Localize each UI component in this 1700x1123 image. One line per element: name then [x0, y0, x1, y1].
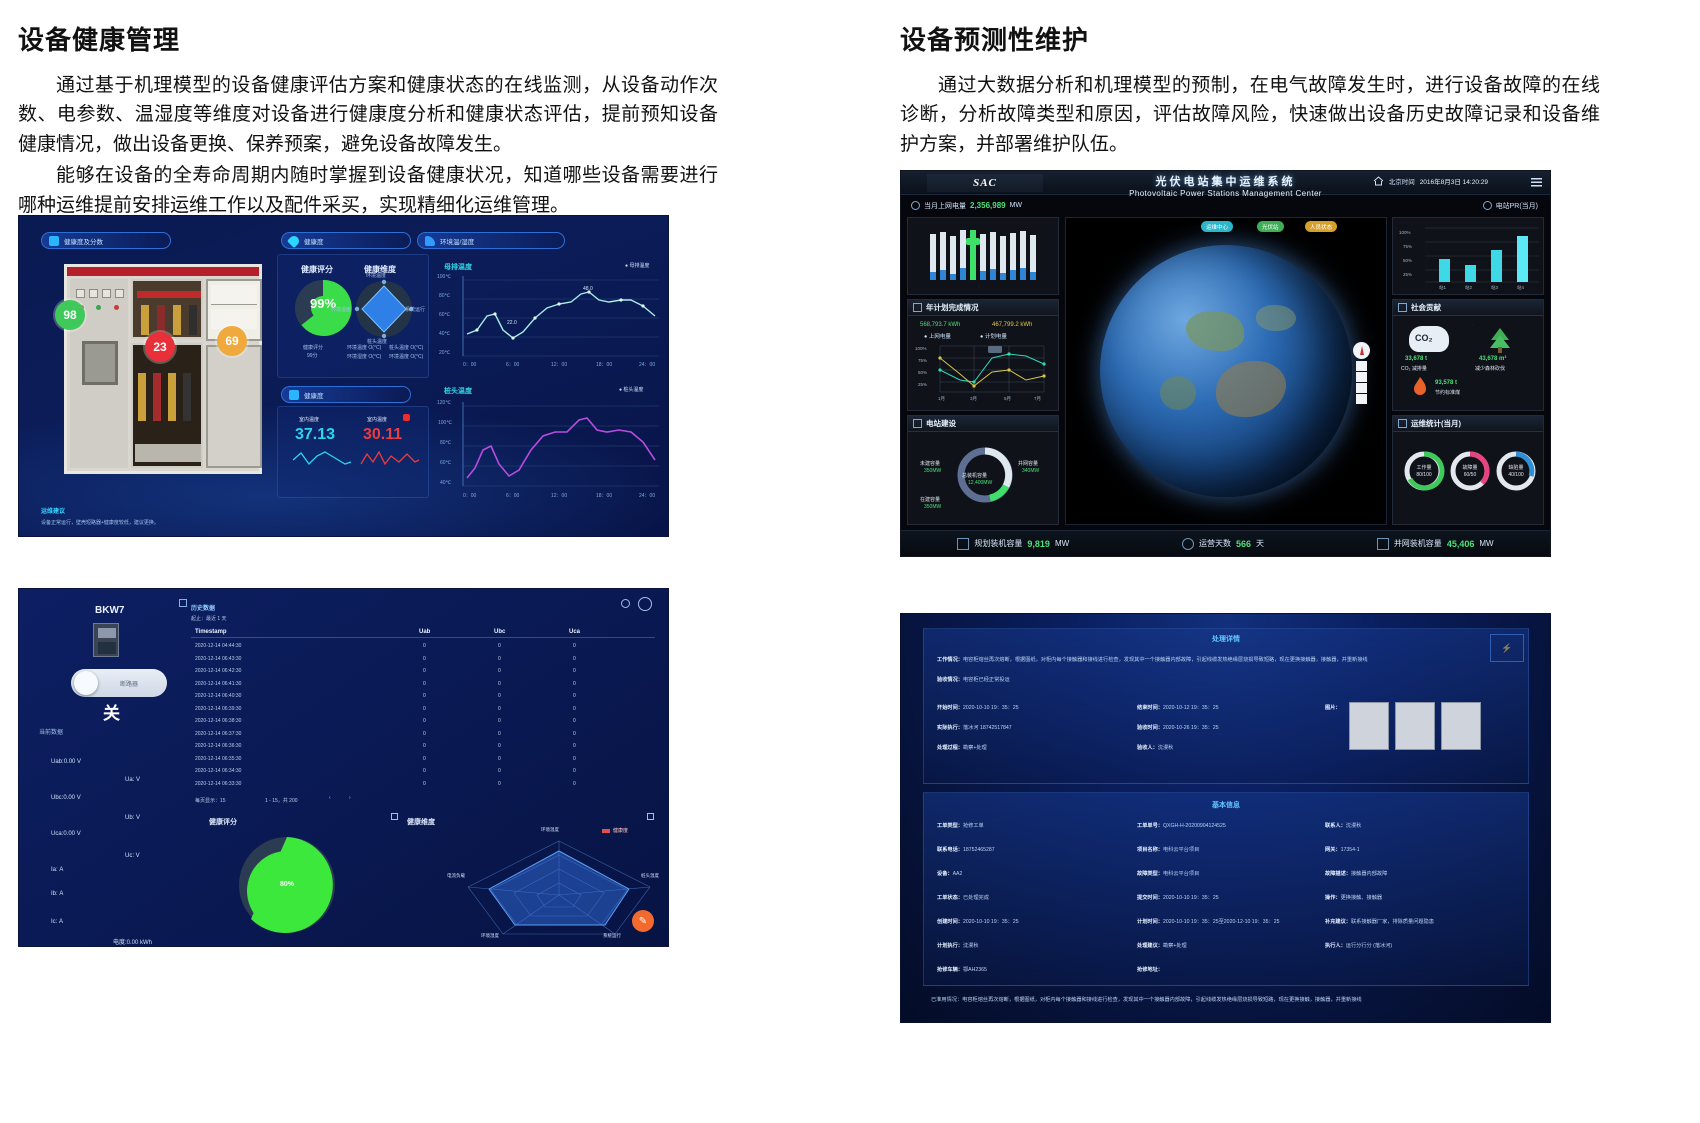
ops-value-1: 60/50 [1455, 472, 1485, 478]
cabinet-busbar-lower [131, 343, 203, 468]
cabinet-right-lower [206, 345, 262, 468]
calendar-icon[interactable] [179, 599, 187, 607]
health-score-caption-1: 健康评分 [303, 344, 323, 351]
reading-ia: Ia: A [51, 867, 63, 873]
table-cell-ubc: 0 [498, 743, 501, 749]
zoom-out-icon[interactable] [1356, 394, 1367, 404]
table-cell-uca: 0 [573, 743, 576, 749]
alarm-icon [403, 414, 410, 421]
document-page: 设备健康管理 通过基于机理模型的设备健康评估方案和健康状态的在线监测，从设备动作… [0, 0, 1700, 1123]
busbar-xtick-4: 24：00 [639, 361, 655, 368]
detail-accept-time: 验收时间：2020-10-26 19：35：25 [1137, 724, 1219, 731]
device-gauge-value: 80% [235, 881, 339, 888]
device-photo [93, 623, 119, 657]
reading-ubc: Ubc:0.00 V [51, 795, 81, 801]
search-icon[interactable] [621, 599, 630, 608]
ops-label-1: 故障量 [1455, 464, 1485, 471]
col-uab: Uab [419, 629, 430, 635]
panel-station-build: 电站建设 未建容量 350MW 总装机容量 12,400MW 并网容量 340M… [907, 415, 1059, 525]
busbar-annotation-2: 48.0 [583, 286, 593, 292]
pager-range: 1 - 15，共 200 [265, 797, 298, 804]
device-name: BKW7 [95, 605, 124, 616]
indoor-value-2: 30.11 [363, 426, 402, 444]
busbar-ytick-2: 60℃ [439, 312, 450, 318]
grid-icon [1377, 538, 1389, 550]
year-xtick-0: 1月 [938, 396, 945, 402]
year-plan-value-1: 568,793.7 kWh [920, 322, 960, 328]
panel-pill-env: 环境温/湿度 [417, 232, 565, 249]
social-value-1: 43,678 m³ [1479, 356, 1506, 362]
cabinet-red-header [67, 267, 259, 276]
table-cell-uab: 0 [423, 693, 426, 699]
left-paragraph-2: 能够在设备的全寿命周期内随时掌握到设备健康状况，知道哪些设备需要进行哪种运维提前… [18, 161, 718, 220]
pv-bottom-bar: 规划装机容量 9,819 MW 运营天数 566 天 并网装机容量 45,406… [901, 530, 1550, 556]
busbar-ytick-1: 80℃ [439, 293, 450, 299]
table-cell-ubc: 0 [498, 656, 501, 662]
busbar-chart-title: 母排温度 [444, 262, 472, 272]
panel-label-camera: 健康度及分数 [64, 236, 103, 246]
table-cell-uca: 0 [573, 781, 576, 787]
basic-info-field: 创建时间：2020-10-10 19：35：25 [937, 918, 1019, 925]
panel-label-indoor: 健康度 [304, 390, 324, 400]
monthly-bar-chart [908, 218, 1060, 296]
basic-info-field: 联系电话：18752465287 [937, 846, 995, 853]
expand-icon-radar[interactable] [647, 813, 654, 820]
plan-icon [957, 538, 969, 550]
col-ubc: Ubc [494, 629, 505, 635]
detail-acceptor: 验收人：沈漫秋 [1137, 744, 1173, 751]
ops-title: 运维统计(当月) [1411, 418, 1461, 429]
table-cell-uab: 0 [423, 781, 426, 787]
pr-xtick-2: 站3 [1491, 285, 1498, 291]
build-label-2: 并网容量 [1018, 460, 1038, 467]
map-tag-ops-center[interactable]: 运维中心 [1201, 221, 1233, 232]
terminal-ytick-3: 60℃ [440, 460, 451, 466]
year-xtick-3: 7月 [1034, 396, 1041, 402]
health-score-caption-2: 99分 [307, 352, 318, 359]
reading-uc: Uc: V [125, 853, 140, 859]
table-cell-uca: 0 [573, 756, 576, 762]
health-bubble-1: 98 [55, 300, 85, 330]
terminal-xtick-3: 18：00 [596, 492, 612, 499]
table-cell-ubc: 0 [498, 718, 501, 724]
busbar-ytick-3: 40℃ [439, 331, 450, 337]
ops-gauge-defects [1495, 450, 1537, 492]
left-section-title: 设备健康管理 [18, 20, 718, 57]
processing-detail-title: 处理详情 [923, 634, 1529, 644]
table-cell-ubc: 0 [498, 756, 501, 762]
basic-info-field: 操作：更换接触、接触器 [1325, 894, 1382, 901]
grid-toggle-icon[interactable] [1356, 361, 1367, 371]
basic-info-card [923, 792, 1529, 986]
table-cell-timestamp: 2020-12-14 06:41:30 [195, 681, 241, 687]
build-value-3: 350MW [924, 504, 941, 510]
year-ytick-2: 50% [918, 370, 927, 375]
device-monitor-dashboard-image: BKW7 断路器 关 当前数据 Uab:0.00 V Ubc:0.00 V Uc… [18, 588, 669, 947]
panel-pill-health: 健康度 [281, 232, 411, 249]
social-header: 社会贡献 [1393, 300, 1543, 316]
table-cell-ubc: 0 [498, 643, 501, 649]
calendar-icon [1398, 419, 1407, 428]
radar-legend-1: 环境温度 O(°C) [347, 344, 381, 351]
reading-uca: Uca:0.00 V [51, 831, 81, 837]
build-value-2: 340MW [1022, 468, 1039, 474]
pager-rows-label: 每页显示：15 [195, 797, 226, 804]
basic-info-field: 计划时间：2020-10-10 19：35：25至2020-12-10 19：3… [1137, 918, 1279, 925]
table-cell-timestamp: 2020-12-14 06:40:30 [195, 693, 241, 699]
table-cell-ubc: 0 [498, 781, 501, 787]
table-cell-ubc: 0 [498, 668, 501, 674]
health-score-title: 健康评分 [301, 264, 333, 275]
panel-ops-stats: 运维统计(当月) 工作量 80/100 故障量 60/50 缺陷量 40/100 [1392, 415, 1544, 525]
right-column: 设备预测性维护 通过大数据分析和机理模型的预制，在电气故障发生时，进行设备故障的… [900, 0, 1600, 159]
table-cell-ubc: 0 [498, 731, 501, 737]
device-radar-axis-3: 环境湿度 [481, 933, 499, 939]
radar-legend-4: 环境温度 O(°C) [389, 353, 423, 360]
globe-controls[interactable] [1353, 342, 1370, 404]
switchgear-photo [64, 264, 262, 474]
social-label-2: 节约标准煤 [1435, 389, 1460, 396]
station-build-title: 电站建设 [926, 418, 956, 429]
pr-ytick-0: 100% [1399, 230, 1411, 235]
terminal-temp-line-chart [437, 398, 662, 502]
table-cell-timestamp: 2020-12-14 06:42:30 [195, 668, 241, 674]
basic-info-field: 执行人：运行分行分 (落冰河) [1325, 942, 1392, 949]
busbar-annotation-1: 22.0 [507, 320, 517, 326]
terminal-xtick-4: 24：00 [639, 492, 655, 499]
table-cell-ubc: 0 [498, 681, 501, 687]
compass-icon[interactable] [1353, 342, 1370, 359]
kpi-left-unit: MW [1010, 202, 1022, 209]
clock-label: 北京时间 [1389, 176, 1415, 186]
detail-work-situation: 工作情况：电容柜熔丝再次熔断，根据图纸，对柜内每个接触器和接线进行检查，发现其中… [937, 656, 1517, 663]
basic-info-field: 补充建议：联系接触器厂家，排除质量问题隐患 [1325, 918, 1434, 925]
indoor-sparkline-1 [291, 448, 353, 470]
clock-icon [1182, 538, 1194, 550]
table-cell-uca: 0 [573, 768, 576, 774]
col-uca: Uca [569, 629, 580, 635]
cloud-co2-icon: CO₂ [1409, 326, 1449, 352]
table-cell-uab: 0 [423, 706, 426, 712]
busbar-ytick-4: 20℃ [439, 350, 450, 356]
history-table-title: 历史数据 [191, 603, 215, 612]
basic-info-field: 处理建议：勘察+处理 [1137, 942, 1187, 949]
table-cell-uca: 0 [573, 681, 576, 687]
indoor-label-2: 室内温度 [367, 416, 387, 423]
year-plan-line-chart [914, 340, 1056, 402]
table-cell-uab: 0 [423, 681, 426, 687]
year-ytick-3: 25% [918, 382, 927, 387]
heart-icon [287, 233, 301, 247]
toggle-label: 断路器 [120, 679, 138, 688]
target-icon[interactable] [1356, 372, 1367, 382]
build-value-1: 12,400MW [968, 480, 992, 486]
table-cell-timestamp: 2020-12-14 06:33:30 [195, 781, 241, 787]
kpi-station-pr: 电站PR(当月) [1483, 197, 1538, 214]
year-plan-header: 年计划完成情况 [908, 300, 1058, 316]
left-paragraph-1: 通过基于机理模型的设备健康评估方案和健康状态的在线监测，从设备动作次数、电参数、… [18, 71, 718, 159]
radar-legend-2: 桩头温度 O(°C) [389, 344, 423, 351]
basic-info-field: 工单类型：抢修工单 [937, 822, 984, 829]
device-gauge-title: 健康评分 [209, 817, 237, 827]
right-paragraph-1: 通过大数据分析和机理模型的预制，在电气故障发生时，进行设备故障的在线诊断，分析故… [900, 71, 1600, 159]
cabinet-busbar-upper [131, 279, 203, 339]
health-bubble-3: 69 [217, 326, 247, 356]
table-cell-uab: 0 [423, 718, 426, 724]
build-value-0: 350MW [924, 468, 941, 474]
table-cell-uab: 0 [423, 643, 426, 649]
detail-image-2[interactable] [1395, 702, 1435, 750]
indoor-value-1: 37.13 [295, 426, 335, 444]
table-cell-uab: 0 [423, 656, 426, 662]
ops-gauge-workload [1403, 450, 1445, 492]
box-icon [289, 390, 299, 400]
busbar-xtick-0: 0：00 [463, 361, 476, 368]
basic-info-field: 联系人：沈漫秋 [1325, 822, 1361, 829]
basic-info-field: 网关：17354-1 [1325, 846, 1360, 853]
panel-label-env: 环境温/湿度 [440, 236, 474, 246]
ops-gauge-faults [1449, 450, 1491, 492]
history-range-label: 起止：最近 1 天 [191, 615, 227, 622]
reading-ib: Ib: A [51, 891, 63, 897]
busbar-xtick-1: 6：00 [506, 361, 519, 368]
ops-value-0: 80/100 [1409, 472, 1439, 478]
left-column: 设备健康管理 通过基于机理模型的设备健康评估方案和健康状态的在线监测，从设备动作… [18, 0, 718, 220]
trophy-icon [1398, 303, 1407, 312]
pager-prev-icon[interactable]: ‹ [329, 795, 331, 801]
table-cell-uca: 0 [573, 718, 576, 724]
busbar-ytick-0: 100℃ [437, 274, 451, 280]
social-value-0: 33,678 t [1405, 356, 1427, 362]
indoor-label-1: 室内温度 [299, 416, 319, 423]
table-cell-timestamp: 2020-12-14 06:39:30 [195, 706, 241, 712]
toggle-knob[interactable] [74, 671, 98, 695]
bottom-item-planned-capacity: 规划装机容量 9,819 MW [957, 538, 1069, 550]
detail-image-1[interactable] [1349, 702, 1389, 750]
device-radar-axis-4: 电流负载 [447, 873, 465, 879]
basic-info-field: 设备：AA2 [937, 870, 962, 877]
year-plan-legend-2: ● 计划电量 [980, 332, 1007, 340]
breaker-state: 关 [103, 699, 120, 724]
pr-ytick-1: 75% [1403, 244, 1412, 249]
panel-pill-indoor: 健康度 [281, 386, 411, 403]
terminal-chart-legend: ● 桩头温度 [619, 386, 643, 393]
detail-acceptance: 验收情况：电容柜已经正常投运 [937, 676, 1010, 683]
table-cell-uca: 0 [573, 693, 576, 699]
basic-info-field: 工单单号：QXGH-H-20200904124525 [1137, 822, 1226, 829]
table-cell-timestamp: 2020-12-14 04:44:30 [195, 643, 241, 649]
col-timestamp: Timestamp [195, 629, 227, 635]
table-cell-timestamp: 2020-12-14 06:35:30 [195, 756, 241, 762]
pr-ytick-3: 25% [1403, 272, 1412, 277]
device-radar-chart [459, 835, 659, 939]
panel-social-contribution: 社会贡献 CO₂ 33,678 t CO₂ 减排量 43,678 m³ 减少森林… [1392, 299, 1544, 411]
indoor-sparkline-2 [359, 448, 421, 470]
basic-info-title: 基本信息 [923, 800, 1529, 810]
station-build-header: 电站建设 [908, 416, 1058, 432]
health-bubble-2: 23 [145, 332, 175, 362]
detail-image-3[interactable] [1441, 702, 1481, 750]
ops-label-2: 缺陷量 [1501, 464, 1531, 471]
reading-ub: Ub: V [125, 815, 140, 821]
basic-info-field: 抢修地址： [1137, 966, 1163, 973]
wave-icon [425, 236, 435, 246]
table-cell-uca: 0 [573, 731, 576, 737]
device-radar-title: 健康维度 [407, 817, 435, 827]
year-xtick-2: 5月 [1004, 396, 1011, 402]
device-radar-legend: 健康度 [602, 827, 628, 834]
basic-info-field: 项目名称：电科云平台项目 [1137, 846, 1199, 853]
table-cell-timestamp: 2020-12-14 06:34:30 [195, 768, 241, 774]
reading-uab: Uab:0.00 V [51, 759, 81, 765]
chart-up-icon [913, 303, 922, 312]
busbar-xtick-2: 12：00 [551, 361, 567, 368]
social-label-1: 减少森林砍伐 [1475, 365, 1505, 372]
table-cell-ubc: 0 [498, 768, 501, 774]
panel-monthly-bars [907, 217, 1059, 295]
advice-title: 运维建议 [41, 506, 65, 515]
basic-info-field: 抢修车辆：鄂AH2365 [937, 966, 987, 973]
kpi-right-label: 电站PR(当月) [1496, 201, 1538, 211]
table-cell-uca: 0 [573, 643, 576, 649]
work-order-detail-image: ⚡ 处理详情 工作情况：电容柜熔丝再次熔断，根据图纸，对柜内每个接触器和接线进行… [900, 613, 1551, 1023]
radar-legend-3: 环境湿度 O(°C) [347, 353, 381, 360]
breaker-toggle[interactable]: 断路器 [71, 669, 167, 697]
ops-label-0: 工作量 [1409, 464, 1439, 471]
pr-xtick-1: 站2 [1465, 285, 1472, 291]
basic-info-field: 计划执行：沈漫秋 [937, 942, 979, 949]
year-plan-title: 年计划完成情况 [926, 302, 979, 313]
table-cell-uab: 0 [423, 743, 426, 749]
globe-viewport[interactable] [1065, 217, 1387, 525]
kpi-left-value: 2,356,989 [970, 201, 1006, 210]
camera-icon [49, 236, 59, 246]
table-cell-timestamp: 2020-12-14 06:43:30 [195, 656, 241, 662]
table-cell-uca: 0 [573, 706, 576, 712]
basic-info-field: 故障类型：电科云平台项目 [1137, 870, 1199, 877]
social-label-0: CO₂ 减排量 [1401, 365, 1427, 372]
social-title: 社会贡献 [1411, 302, 1441, 313]
earth-globe [1100, 245, 1352, 497]
detail-images-label: 图片： [1325, 704, 1341, 711]
table-header-divider [191, 637, 655, 638]
table-cell-uab: 0 [423, 768, 426, 774]
detail-executor: 实际执行：落冰河 18742517847 [937, 724, 1012, 731]
year-ytick-1: 75% [918, 358, 927, 363]
busbar-temp-line-chart [437, 272, 662, 372]
build-label-0: 未建容量 [920, 460, 940, 467]
advice-text: 设备正常运行，壁壳短路器+健康度较低，建议更换。 [41, 519, 159, 526]
table-cell-uab: 0 [423, 668, 426, 674]
table-cell-timestamp: 2020-12-14 06:37:30 [195, 731, 241, 737]
bolt-icon [911, 201, 920, 210]
pr-xtick-3: 站4 [1517, 285, 1524, 291]
year-xtick-1: 3月 [970, 396, 977, 402]
social-value-2: 93,578 t [1435, 380, 1457, 386]
home-icon [1373, 176, 1384, 186]
table-cell-ubc: 0 [498, 706, 501, 712]
reading-energy: 电度:0.00 kWh [113, 937, 152, 946]
tree-icon [1485, 326, 1515, 354]
bottom-item-grid-capacity: 并网装机容量 45,406 MW [1377, 538, 1494, 550]
map-tag-staff-status[interactable]: 人员状态 [1305, 221, 1337, 232]
kpi-monthly-grid-power: 当月上网电量 2,356,989 MW [911, 197, 1022, 214]
radar-axis-right: 系统运行 [405, 306, 425, 313]
menu-icon[interactable] [1531, 178, 1542, 187]
reading-ic: Ic: A [51, 919, 63, 925]
pv-clock: 北京时间 2016年8月3日 14:20:29 [1373, 176, 1488, 186]
terminal-xtick-1: 6：00 [506, 492, 519, 499]
terminal-ytick-4: 40℃ [440, 480, 451, 486]
table-cell-uca: 0 [573, 656, 576, 662]
basic-info-field: 工单状态：已处理完成 [937, 894, 989, 901]
order-footer-note: 已准用情况：电容柜熔丝再次熔断，根据图纸，对柜内每个接触器和接线进行检查，发现其… [931, 996, 1531, 1003]
current-data-label: 当前数据 [39, 727, 63, 736]
pr-icon [1483, 201, 1492, 210]
panel-pr-bars: 100% 75% 50% 25% 站1 站2 站3 站4 [1392, 217, 1544, 295]
table-cell-timestamp: 2020-12-14 06:36:30 [195, 743, 241, 749]
ops-value-2: 40/100 [1501, 472, 1531, 478]
basic-info-field: 故障描述：接触器内部故障 [1325, 870, 1387, 877]
fab-edit-icon[interactable]: ✎ [632, 910, 654, 932]
expand-icon-gauge[interactable] [391, 813, 398, 820]
map-tag-pv-station[interactable]: 光伏站 [1257, 221, 1284, 232]
zoom-in-icon[interactable] [1356, 383, 1367, 393]
table-cell-ubc: 0 [498, 693, 501, 699]
clock-value: 2016年8月3日 14:20:29 [1420, 176, 1488, 186]
pager-next-icon[interactable]: › [349, 795, 351, 801]
build-label-3: 在建容量 [920, 496, 940, 503]
terminal-ytick-0: 120℃ [437, 400, 451, 406]
flame-icon [1409, 376, 1431, 396]
panel-label-health: 健康度 [304, 236, 324, 246]
year-plan-value-2: 467,799.2 kWh [992, 322, 1032, 328]
build-label-1: 总装机容量 [962, 472, 987, 479]
busbar-xtick-3: 18：00 [596, 361, 612, 368]
year-plan-legend-1: ● 上网电量 [924, 332, 951, 340]
terminal-ytick-2: 80℃ [440, 440, 451, 446]
panel-pill-camera: 健康度及分数 [41, 232, 171, 249]
panel-year-plan: 年计划完成情况 568,793.7 kWh 467,799.2 kWh ● 上网… [907, 299, 1059, 411]
device-radar-axis-0: 环境温度 [541, 827, 559, 833]
avatar[interactable] [638, 597, 652, 611]
building-icon [913, 419, 922, 428]
table-cell-uab: 0 [423, 731, 426, 737]
terminal-ytick-1: 100℃ [438, 420, 452, 426]
equipment-health-dashboard-image: 健康度及分数 健康度 环境温/湿度 健康度 [18, 215, 669, 537]
terminal-xtick-0: 0：00 [463, 492, 476, 499]
table-cell-timestamp: 2020-12-14 06:38:30 [195, 718, 241, 724]
year-ytick-0: 100% [915, 346, 927, 351]
terminal-xtick-2: 12：00 [551, 492, 567, 499]
pv-management-dashboard-image: SAC 光伏电站集中运维系统 Photovoltaic Power Statio… [900, 170, 1551, 557]
basic-info-field: 提交时间：2020-10-10 19：35：25 [1137, 894, 1219, 901]
pr-ytick-2: 50% [1403, 258, 1412, 263]
table-cell-uab: 0 [423, 756, 426, 762]
kpi-left-label: 当月上网电量 [924, 201, 966, 211]
busbar-chart-legend: ● 母排温度 [625, 262, 649, 269]
terminal-chart-title: 桩头温度 [444, 386, 472, 396]
detail-end-time: 结束时间：2020-10-12 19：35：25 [1137, 704, 1219, 711]
detail-process: 处理过程：勘察+处理 [937, 744, 987, 751]
radar-axis-left: 环境湿度 [331, 306, 351, 313]
device-radar-axis-1: 桩头温度 [641, 873, 659, 879]
right-section-title: 设备预测性维护 [900, 20, 1600, 57]
detail-start-time: 开始时间：2020-10-10 19：35：25 [937, 704, 1019, 711]
device-radar-axis-2: 系统运行 [603, 933, 621, 939]
table-cell-uca: 0 [573, 668, 576, 674]
bottom-item-operating-days: 运营天数 566 天 [1182, 538, 1264, 550]
